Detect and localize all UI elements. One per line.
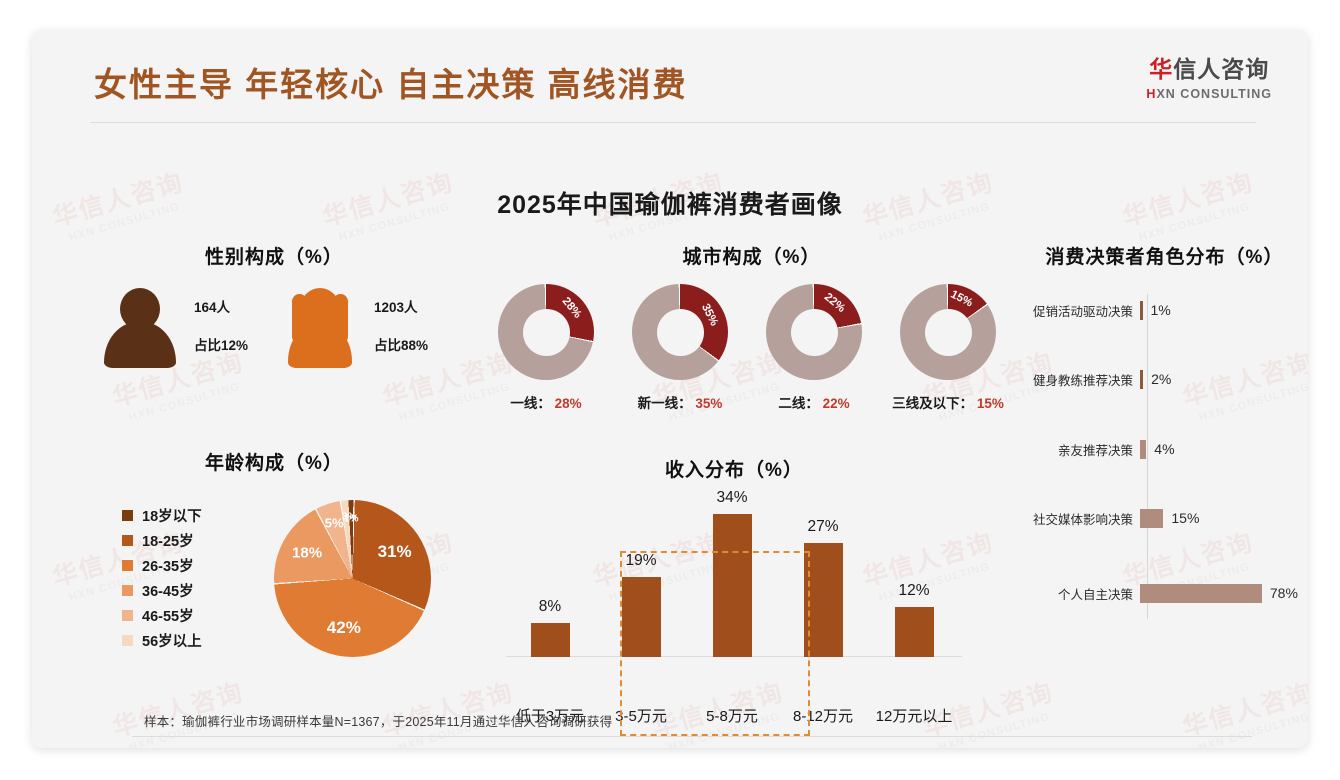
donut-ring: 15% [900,284,996,380]
city-donut-4: 15%三线及以下： 15% [886,284,1010,380]
female-share: 占比88% [374,334,428,354]
age-slice-label: 42% [327,618,361,638]
copyright-text: ©2026.1 HXR华信人咨询 [132,747,272,748]
company-logo: 华信人咨询 HXN CONSULTING [1146,50,1272,101]
donut-caption: 新一线： 35% [618,392,742,412]
role-value: 4% [1154,441,1174,457]
sample-note: 样本：瑜伽裤行业市场调研样本量N=1367，于2025年11月通过华信人咨询调研… [144,711,612,730]
logo-en-red-char: H [1146,87,1156,101]
legend-label: 36-45岁 [142,580,194,601]
role-row: 健身教练推荐决策2% [1022,367,1307,391]
male-share: 占比12% [194,334,248,354]
income-bar [895,607,934,658]
role-bar [1140,301,1143,320]
donut-caption: 一线： 28% [484,392,608,412]
income-panel-title: 收入分布（%） [484,455,984,482]
donut-value-label: 15% [949,288,975,309]
income-bar-chart: 8%低于3万元19%3-5万元34%5-8万元27%8-12万元12%12万元以… [484,497,984,657]
income-bar-value: 8% [506,598,594,616]
role-bar [1140,370,1143,389]
legend-swatch [122,610,133,621]
income-bar-value: 12% [870,582,958,600]
role-label: 个人自主决策 [1022,584,1140,603]
legend-label: 46-55岁 [142,605,194,626]
legend-swatch [122,560,133,571]
age-composition-panel: 年龄构成（%） 18岁以下18-25岁26-35岁36-45岁46-55岁56岁… [94,448,484,688]
decision-role-panel: 消费决策者角色分布（%） 促销活动驱动决策1%健身教练推荐决策2%亲友推荐决策4… [1022,242,1308,642]
page-title: 2025年中国瑜伽裤消费者画像 [32,185,1308,221]
logo-chinese-text: 华信人咨询 [1146,50,1272,84]
role-value: 1% [1151,302,1171,318]
age-legend-item: 36-45岁 [122,578,202,603]
logo-cn-rest: 信人咨询 [1173,56,1269,82]
male-person-icon [104,288,176,368]
donut-caption: 二线： 22% [752,392,876,412]
age-legend: 18岁以下18-25岁26-35岁36-45岁46-55岁56岁以上 [122,503,202,653]
age-panel-title: 年龄构成（%） [94,448,454,475]
city-composition-panel: 城市构成（%） 28%一线： 28%35%新一线： 35%22%二线： 22%1… [484,242,1019,402]
age-slice-label: 18% [292,545,322,562]
legend-label: 56岁以上 [142,630,202,651]
income-distribution-panel: 收入分布（%） 8%低于3万元19%3-5万元34%5-8万元27%8-12万元… [484,455,984,690]
legend-label: 18岁以下 [142,505,202,526]
age-legend-item: 26-35岁 [122,553,202,578]
legend-swatch [122,510,133,521]
role-row: 社交媒体影响决策15% [1022,506,1307,530]
age-legend-item: 18-25岁 [122,528,202,553]
legend-swatch [122,535,133,546]
city-panel-title: 城市构成（%） [484,242,1019,269]
role-label: 社交媒体影响决策 [1022,509,1140,528]
age-legend-item: 18岁以下 [122,503,202,528]
age-pie-chart: 1%31%42%18%5%3% [274,500,431,657]
age-legend-item: 56岁以上 [122,628,202,653]
legend-label: 26-35岁 [142,555,194,576]
income-bar [531,623,570,657]
income-bar-column: 8%低于3万元 [506,497,594,657]
income-highlight-box [620,551,810,736]
male-count: 164人 [194,296,230,316]
income-bar-category: 12万元以上 [870,705,958,726]
role-row: 亲友推荐决策4% [1022,437,1307,461]
role-value: 78% [1270,585,1298,601]
donut-caption: 三线及以下： 15% [886,392,1010,412]
role-label: 亲友推荐决策 [1022,440,1140,459]
age-slice-label: 3% [342,511,356,522]
role-bar [1140,584,1262,603]
city-donut-2: 35%新一线： 35% [618,284,742,380]
roles-panel-title: 消费决策者角色分布（%） [1022,242,1307,269]
role-label: 促销活动驱动决策 [1022,301,1140,320]
female-person-icon [284,288,356,368]
donut-ring: 22% [766,284,862,380]
age-slice-label: 31% [378,542,412,562]
income-bar-value: 34% [688,489,776,507]
logo-english-text: HXN CONSULTING [1146,87,1272,101]
role-value: 15% [1171,510,1199,526]
role-label: 健身教练推荐决策 [1022,370,1140,389]
age-slice-label: 5% [325,516,344,531]
role-value: 2% [1151,371,1171,387]
legend-label: 18-25岁 [142,530,194,551]
city-donut-1: 28%一线： 28% [484,284,608,380]
logo-cn-red-char: 华 [1149,56,1173,82]
role-bar [1140,509,1163,528]
role-row: 促销活动驱动决策1% [1022,298,1307,322]
infographic-card: 华信人咨询HXN CONSULTING华信人咨询HXN CONSULTING华信… [32,30,1308,748]
logo-en-rest: XN CONSULTING [1156,87,1272,101]
header-headline: 女性主导 年轻核心 自主决策 高线消费 [94,58,688,106]
income-bar-column: 12%12万元以上 [870,497,958,657]
age-legend-item: 46-55岁 [122,603,202,628]
page-header: 女性主导 年轻核心 自主决策 高线消费 华信人咨询 HXN CONSULTING [32,30,1308,122]
donut-ring: 28% [498,284,594,380]
legend-swatch [122,585,133,596]
header-divider [90,122,1256,123]
role-row: 个人自主决策78% [1022,581,1307,605]
role-bar [1140,440,1146,459]
city-donut-3: 22%二线： 22% [752,284,876,380]
income-bar-value: 27% [779,518,867,536]
gender-panel-title: 性别构成（%） [94,242,454,269]
gender-composition-panel: 性别构成（%） 164人 占比12% 1203人 占比88% [94,242,484,392]
donut-ring: 35% [632,284,728,380]
female-count: 1203人 [374,296,418,316]
footer-divider [132,736,1252,737]
legend-swatch [122,635,133,646]
